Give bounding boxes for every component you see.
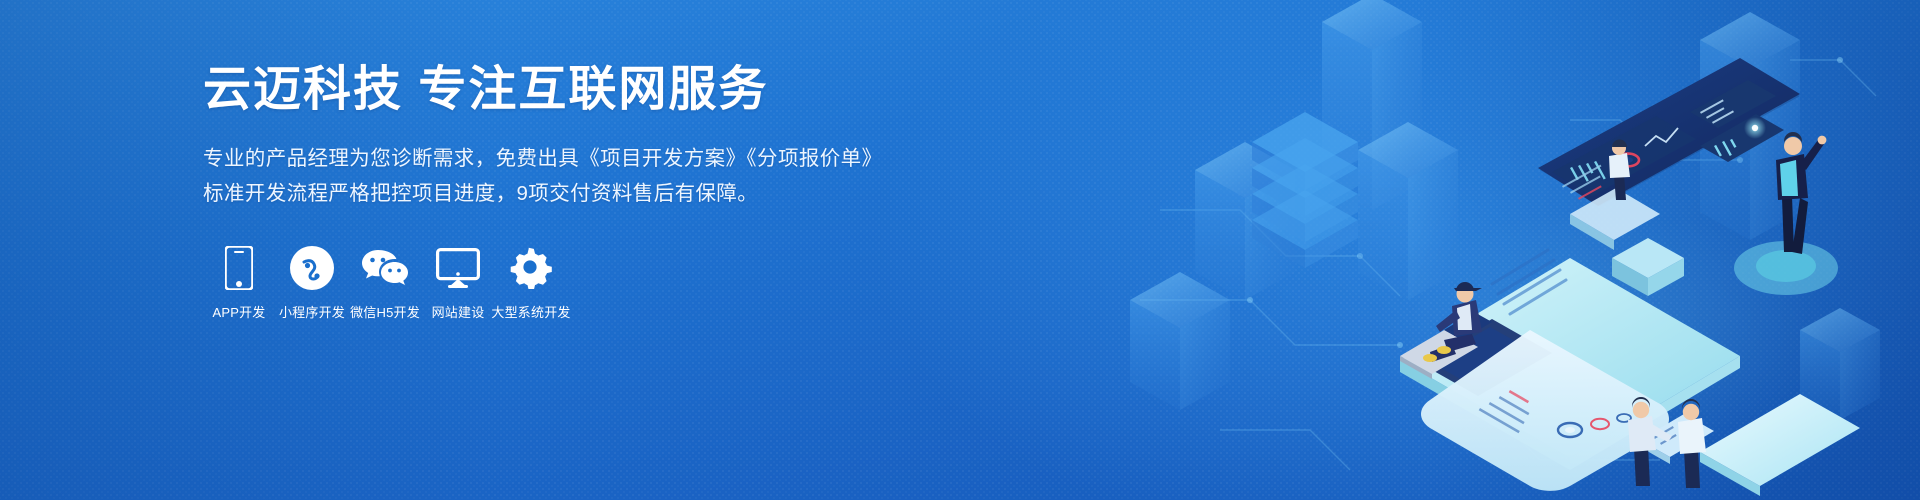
- banner-subtitle: 专业的产品经理为您诊断需求，免费出具《项目开发方案》《分项报价单》 标准开发流程…: [203, 141, 903, 211]
- smartphone-icon: [225, 245, 253, 291]
- service-item-mini-program[interactable]: 小程序开发: [276, 245, 348, 321]
- server-stack: [1252, 112, 1358, 268]
- service-label: APP开发: [212, 302, 265, 321]
- monitor-icon: [436, 245, 480, 291]
- service-item-app[interactable]: APP开发: [203, 245, 275, 321]
- subtitle-line-1: 专业的产品经理为您诊断需求，免费出具《项目开发方案》《分项报价单》: [203, 141, 903, 176]
- gear-icon: [510, 245, 552, 291]
- banner-content: 云迈科技 专注互联网服务 专业的产品经理为您诊断需求，免费出具《项目开发方案》《…: [203, 62, 903, 321]
- page-title: 云迈科技 专注互联网服务: [203, 62, 903, 117]
- service-label: 微信H5开发: [350, 302, 420, 321]
- service-item-website[interactable]: 网站建设: [422, 245, 494, 321]
- mini-program-icon: [290, 245, 334, 291]
- service-label: 网站建设: [432, 302, 485, 321]
- wechat-icon: [361, 245, 409, 291]
- hero-banner: 云迈科技 专注互联网服务 专业的产品经理为您诊断需求，免费出具《项目开发方案》《…: [0, 0, 1920, 500]
- service-item-large-system[interactable]: 大型系统开发: [495, 245, 567, 321]
- service-item-wechat-h5[interactable]: 微信H5开发: [349, 245, 421, 321]
- isometric-data-dashboard-illustration: [1100, 0, 1920, 500]
- service-label: 大型系统开发: [491, 302, 570, 321]
- service-label: 小程序开发: [279, 302, 345, 321]
- subtitle-line-2: 标准开发流程严格把控项目进度，9项交付资料售后有保障。: [203, 176, 903, 211]
- service-list: APP开发 小程序开发: [203, 245, 903, 321]
